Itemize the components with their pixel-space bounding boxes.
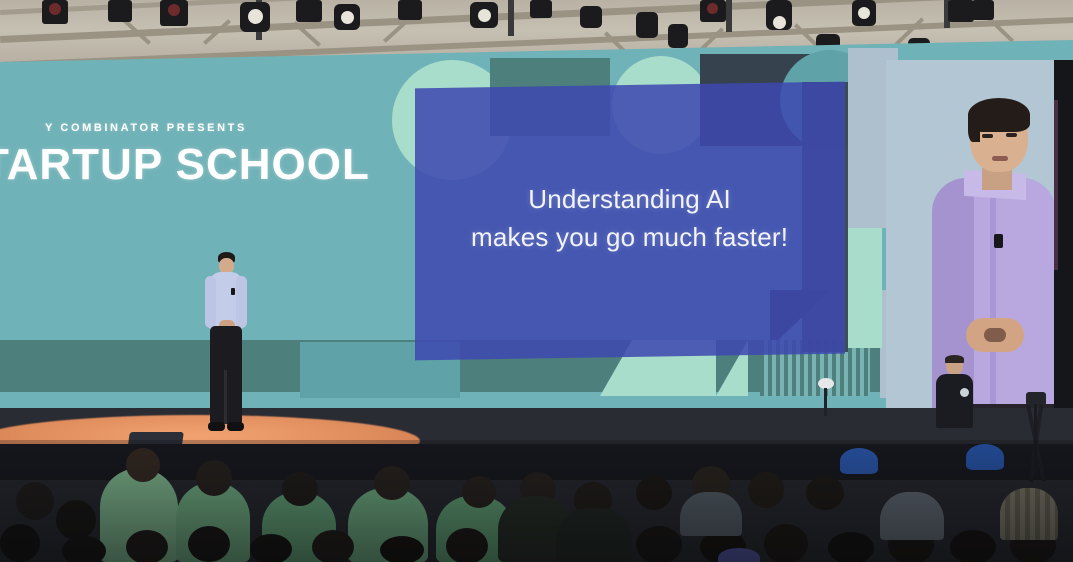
stage-light-fixture (948, 0, 974, 22)
decor-rect-mint-low (848, 228, 882, 348)
stage-light-fixture (296, 0, 322, 22)
audience-shadow-overlay (0, 440, 1073, 562)
staff-standing-figure (932, 356, 976, 428)
stage-light-lens (858, 7, 870, 19)
imag-speaker-hair-side (968, 112, 980, 142)
slide-line-1: Understanding AI (471, 181, 788, 219)
stage-light-lens (773, 16, 786, 29)
stage-light-fixture (580, 6, 602, 28)
imag-speaker-closeup-panel (886, 60, 1073, 420)
stage-speaker-arm-left (205, 276, 216, 328)
stage-light-lens (248, 9, 263, 24)
stage-light-fixture (668, 24, 688, 48)
imag-speaker-eye-left (982, 134, 993, 138)
slide-line-2: makes you go much faster! (471, 219, 788, 257)
imag-speaker-mouth (992, 156, 1008, 161)
truss-support (508, 0, 514, 36)
stage-light-lens (707, 3, 718, 14)
presentation-slide-panel: Understanding AI makes you go much faste… (415, 82, 845, 361)
stage-light-fixture (398, 0, 422, 20)
stage-light-fixture (108, 0, 132, 22)
staff-badge-icon (960, 388, 969, 397)
staff-body (936, 374, 973, 428)
imag-lapel-mic-icon (994, 234, 1003, 248)
stage-speaker-figure (198, 252, 252, 438)
imag-speaker-hands-shadow (984, 328, 1006, 342)
stage-light-lens (49, 3, 61, 15)
stage-light-lens (168, 4, 180, 16)
wall-branding-block: Y COMBINATOR PRESENTS TARTUP SCHOOL (0, 122, 420, 187)
stage-light-fixture (530, 0, 552, 18)
stage-light-fixture (636, 12, 658, 38)
imag-shirt-placket (990, 190, 996, 420)
imag-speaker-eye-right (1006, 133, 1017, 137)
staff-hair (945, 355, 964, 363)
startup-school-headline: TARTUP SCHOOL (0, 143, 420, 187)
slide-text-block: Understanding AI makes you go much faste… (471, 181, 788, 256)
stage-edge-light-pole (824, 388, 827, 416)
stage-speaker-arm-right (236, 276, 247, 328)
conference-stage-photo: Y COMBINATOR PRESENTS TARTUP SCHOOL Unde… (0, 0, 1073, 562)
stage-speaker-leg-gap (224, 370, 227, 424)
yc-presents-eyebrow: Y COMBINATOR PRESENTS (45, 122, 420, 134)
stage-light-lens (478, 9, 491, 22)
stage-speaker-lapel-mic-icon (231, 288, 235, 295)
stage-light-fixture (972, 0, 994, 20)
stage-light-lens (341, 11, 354, 24)
imag-panel-edge-glow (1054, 100, 1058, 270)
truss-support (726, 0, 732, 32)
